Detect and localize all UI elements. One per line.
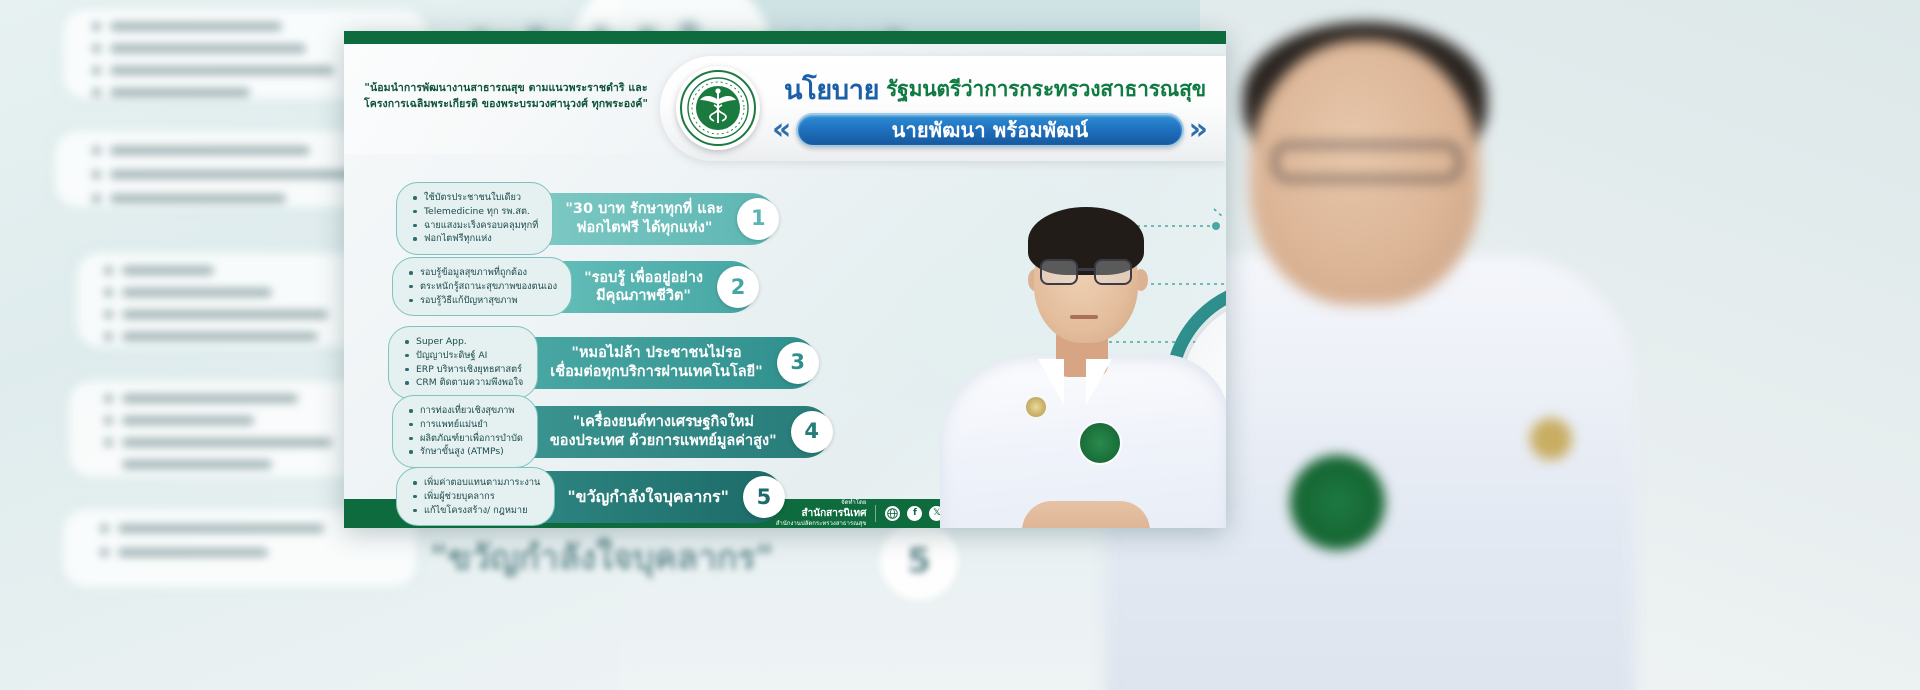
policy-3-bullets: Super App. ปัญญาประดิษฐ์ AI ERP บริหารเช… (388, 326, 538, 399)
policy-row-3[interactable]: Super App. ปัญญาประดิษฐ์ AI ERP บริหารเช… (388, 326, 817, 399)
policy-3-bullet-0: Super App. (405, 335, 523, 349)
ghost-bullet-dot (92, 22, 101, 31)
ghost-line (110, 170, 358, 179)
moph-seal-svg (687, 77, 749, 139)
minister-hands (1022, 501, 1150, 528)
ghost-bullet-dot (92, 88, 101, 97)
ghost-person-glasses-icon (1272, 142, 1462, 182)
policy-5-bullet-1: เพิ่มผู้ช่วยบุคลากร (413, 490, 540, 504)
minister-name-pill: นายพัฒนา พร้อมพัฒน์ (796, 113, 1183, 147)
footer-divider (875, 505, 876, 522)
policy-4-bullet-3: รักษาขั้นสูง (ATMPs) (409, 445, 523, 459)
ghost-bullet-dot (104, 438, 113, 447)
policy-5-bullet-2: แก้ไขโครงสร้าง/ กฎหมาย (413, 504, 540, 518)
ghost-bullet-dot (100, 524, 109, 533)
policy-2-bullet-1: ตระหนักรู้สถานะสุขภาพของตนเอง (409, 280, 557, 294)
ghost-bullet-dot (104, 266, 113, 275)
policy-1-bullet-2: ฉายแสงมะเร็งครอบคลุมทุกที่ (413, 219, 538, 233)
policy-4-bullet-1: การแพทย์แม่นยำ (409, 418, 523, 432)
ghost-line (110, 88, 250, 97)
minister-collar-right (1086, 359, 1112, 405)
ghost-line (118, 524, 324, 533)
top-green-bar (344, 31, 1226, 44)
policy-2-bullet-0: รอบรู้ข้อมูลสุขภาพที่ถูกต้อง (409, 266, 557, 280)
policy-row-5[interactable]: เพิ่มค่าตอบแทนตามภาระงาน เพิ่มผู้ช่วยบุค… (396, 467, 783, 526)
ghost-line (122, 438, 332, 447)
policy-1-bullet-1: Telemedicine ทุก รพ.สต. (413, 205, 538, 219)
ghost-line (118, 548, 268, 557)
minister-name-text: นายพัฒนา พร้อมพัฒน์ (892, 114, 1089, 146)
policy-3-number-badge: 3 (777, 342, 819, 384)
policy-2-headline-line-0: "รอบรู้ เพื่ออยู่อย่าง (584, 269, 703, 287)
policy-3-bullet-3: CRM ติดตามความพึงพอใจ (405, 376, 523, 390)
policy-row-2[interactable]: รอบรู้ข้อมูลสุขภาพที่ถูกต้อง ตระหนักรู้ส… (392, 257, 757, 316)
ghost-bottom-badge: 5 (880, 522, 958, 600)
glasses-bridge (1078, 268, 1094, 271)
infographic-body: "น้อมนำการพัฒนางานสาธารณสุข ตามแนวพระราช… (344, 44, 1226, 499)
ghost-bullet-dot (92, 66, 101, 75)
policy-5-bullets: เพิ่มค่าตอบแทนตามภาระงาน เพิ่มผู้ช่วยบุค… (396, 467, 555, 526)
policy-5-bullet-0: เพิ่มค่าตอบแทนตามภาระงาน (413, 476, 540, 490)
policy-1-bullets: ใช้บัตรประชาชนใบเดียว Telemedicine ทุก ร… (396, 182, 553, 255)
policy-1-bullet-0: ใช้บัตรประชาชนใบเดียว (413, 191, 538, 205)
minister-name-row: « นายพัฒนา พร้อมพัฒน์ » (772, 110, 1208, 150)
minister-mouth (1070, 315, 1098, 319)
ghost-line (110, 44, 306, 53)
chevron-left-icon: « (772, 115, 791, 145)
glasses-icon (1040, 259, 1132, 285)
ghost-bullet-dot (92, 194, 101, 203)
footer-credit: จัดทำโดย สำนักสารนิเทศ สำนักงานปลัดกระทร… (776, 499, 867, 528)
ghost-bullet-dot (104, 332, 113, 341)
ghost-line (122, 416, 254, 425)
glasses-lens-right (1094, 259, 1132, 285)
title-minister-of-public-health: รัฐมนตรีว่าการกระทรวงสาธารณสุข (886, 73, 1206, 106)
policy-5-headline-line-0: "ขวัญกำลังใจบุคลากร" (567, 487, 729, 507)
ghost-line (110, 22, 282, 31)
policy-row-4[interactable]: การท่องเที่ยวเชิงสุขภาพ การแพทย์แม่นยำ ผ… (392, 395, 831, 468)
policy-3-headline-line-1: เชื่อมต่อทุกบริการผ่านเทคโนโลยี" (550, 363, 762, 381)
policy-4-number-badge: 4 (791, 411, 833, 453)
footer-credit-org: สำนักสารนิเทศ (776, 507, 867, 520)
footer-credit-prefix: จัดทำโดย (841, 499, 866, 506)
policy-4-headline-line-1: ของประเทศ ด้วยการแพทย์มูลค่าสูง" (550, 432, 777, 450)
ghost-line (122, 460, 272, 469)
policy-4-headline-line-0: "เครื่องยนต์ทางเศรษฐกิจใหม่ (550, 413, 777, 431)
glasses-lens-left (1040, 259, 1078, 285)
policy-4-bullet-2: ผลิตภัณฑ์ยาเพื่อการบำบัด (409, 432, 523, 446)
policy-5-headline: "ขวัญกำลังใจบุคลากร" 5 (537, 471, 783, 523)
ghost-line (122, 310, 328, 319)
royal-initiative-quote: "น้อมนำการพัฒนางานสาธารณสุข ตามแนวพระราช… (356, 80, 656, 113)
ghost-bullet-dot (104, 310, 113, 319)
minister-lapel-pin-icon (1026, 397, 1046, 417)
ghost-line (122, 332, 318, 341)
policy-4-bullet-0: การท่องเที่ยวเชิงสุขภาพ (409, 404, 523, 418)
ghost-bullet-dot (104, 394, 113, 403)
ghost-line (122, 266, 214, 275)
ghost-line (110, 146, 310, 155)
ghost-person-emblem (1290, 455, 1385, 550)
ghost-bullet-dot (104, 416, 113, 425)
ghost-line (110, 66, 334, 75)
ghost-bullet-dot (92, 170, 101, 179)
ghost-line (110, 194, 286, 203)
policy-3-bullet-1: ปัญญาประดิษฐ์ AI (405, 349, 523, 363)
policy-2-headline-line-1: มีคุณภาพชีวิต" (584, 287, 703, 305)
policy-2-number-badge: 2 (717, 266, 759, 308)
policy-2-headline: "รอบรู้ เพื่ออยู่อย่าง มีคุณภาพชีวิต" 2 (554, 261, 757, 313)
policy-1-number-badge: 1 (737, 198, 779, 240)
policy-2-bullets: รอบรู้ข้อมูลสุขภาพที่ถูกต้อง ตระหนักรู้ส… (392, 257, 572, 316)
policy-3-bullet-2: ERP บริหารเชิงยุทธศาสตร์ (405, 363, 523, 377)
ghost-line (122, 288, 272, 297)
ghost-line (122, 394, 298, 403)
minister-photo (930, 149, 1226, 528)
policy-row-1[interactable]: ใช้บัตรประชาชนใบเดียว Telemedicine ทุก ร… (396, 182, 777, 255)
policy-5-number-badge: 5 (743, 476, 785, 518)
ghost-bullet-dot (100, 548, 109, 557)
policy-3-headline: "หมอไม่ล้า ประชาชนไม่รอ เชื่อมต่อทุกบริก… (520, 337, 816, 389)
policy-1-headline-line-0: "30 บาท รักษาทุกที่ และ (565, 200, 723, 218)
policy-4-headline: "เครื่องยนต์ทางเศรษฐกิจใหม่ ของประเทศ ด้… (520, 406, 831, 458)
ghost-bullet-dot (104, 288, 113, 297)
title-policy-word: นโยบาย (784, 68, 879, 111)
policy-1-headline-line-1: ฟอกไตฟรี ได้ทุกแห่ง" (565, 219, 723, 237)
policy-3-headline-line-0: "หมอไม่ล้า ประชาชนไม่รอ (550, 344, 762, 362)
policy-1-headline: "30 บาท รักษาทุกที่ และ ฟอกไตฟรี ได้ทุกแ… (535, 193, 777, 245)
footer-credit-sub: สำนักงานปลัดกระทรวงสาธารณสุข (776, 520, 867, 527)
ghost-person-pin (1530, 418, 1572, 460)
policy-4-bullets: การท่องเที่ยวเชิงสุขภาพ การแพทย์แม่นยำ ผ… (392, 395, 538, 468)
chevron-right-icon: » (1189, 115, 1208, 145)
globe-icon[interactable] (885, 506, 900, 521)
moph-logo-icon (676, 66, 760, 150)
infographic-card: "น้อมนำการพัฒนางานสาธารณสุข ตามแนวพระราช… (344, 31, 1226, 528)
policy-2-bullet-2: รอบรู้วิธีแก้ปัญหาสุขภาพ (409, 294, 557, 308)
facebook-icon[interactable]: f (907, 506, 922, 521)
ghost-bottom-headline: "ขวัญกำลังใจบุคลากร" (430, 530, 773, 584)
ghost-bullet-dot (92, 44, 101, 53)
ghost-bullet-dot (92, 146, 101, 155)
minister-emblem-icon (1078, 421, 1122, 465)
policy-1-bullet-3: ฟอกไตฟรีทุกแห่ง (413, 232, 538, 246)
policy-title-row: นโยบาย รัฐมนตรีว่าการกระทรวงสาธารณสุข (784, 72, 1204, 106)
